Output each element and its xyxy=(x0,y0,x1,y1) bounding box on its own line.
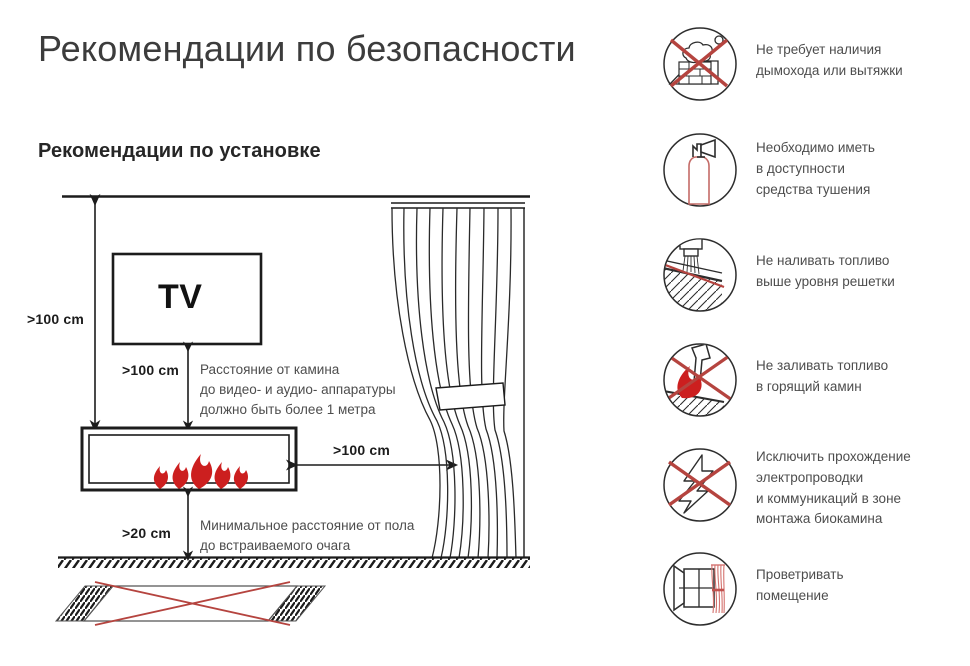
tv-distance-note: Расстояние от камина до видео- и аудио- … xyxy=(200,360,396,420)
dimension-label-tv: >100 cm xyxy=(122,362,179,378)
dimension-label-horizontal: >100 cm xyxy=(333,442,390,458)
safety-icon-list: Не требует наличия дымохода или вытяжки … xyxy=(662,26,962,651)
no-overfill-fuel-icon xyxy=(662,237,738,313)
dimension-label-floor: >20 cm xyxy=(122,525,171,541)
ventilate-room-icon xyxy=(662,551,738,627)
safety-item-extinguisher: Необходимо иметь в доступности средства … xyxy=(662,132,962,237)
safety-item-text: Не наливать топливо выше уровня решетки xyxy=(738,237,962,293)
installation-diagram: >100 cm >100 cm >20 cm >100 cm Расстояни… xyxy=(0,0,650,666)
no-chimney-icon xyxy=(662,26,738,102)
safety-item-text: Проветривать помещение xyxy=(738,551,962,607)
rug-forbidden xyxy=(56,582,325,625)
safety-item-no-overfill: Не наливать топливо выше уровня решетки xyxy=(662,237,962,342)
curtain xyxy=(391,203,525,558)
fireplace-box xyxy=(82,428,296,490)
safety-item-ventilate: Проветривать помещение xyxy=(662,551,962,651)
fire-extinguisher-icon xyxy=(662,132,738,208)
no-electrical-wiring-icon xyxy=(662,447,738,523)
safety-item-text: Необходимо иметь в доступности средства … xyxy=(738,132,962,200)
safety-item-no-chimney: Не требует наличия дымохода или вытяжки xyxy=(662,26,962,132)
no-refuel-burning-icon xyxy=(662,342,738,418)
safety-item-text: Исключить прохождение электропроводки и … xyxy=(738,447,962,530)
safety-item-text: Не заливать топливо в горящий камин xyxy=(738,342,962,398)
dimension-label-ceiling: >100 cm xyxy=(27,311,84,327)
infographic-page: Рекомендации по безопасности Рекомендаци… xyxy=(0,0,970,666)
floor-distance-note: Минимальное расстояние от пола до встраи… xyxy=(200,516,414,556)
floor-line xyxy=(58,558,530,569)
safety-item-no-wiring: Исключить прохождение электропроводки и … xyxy=(662,447,962,551)
safety-item-no-refuel-burning: Не заливать топливо в горящий камин xyxy=(662,342,962,447)
tv-label: TV xyxy=(158,278,202,317)
safety-item-text: Не требует наличия дымохода или вытяжки xyxy=(738,26,962,82)
